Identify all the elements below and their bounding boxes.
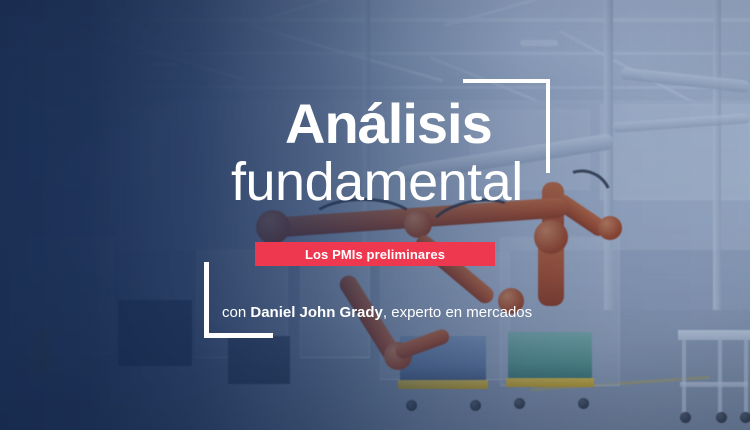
page-title-primary: Análisis xyxy=(285,96,492,152)
corner-bracket-bottom-left-horizontal xyxy=(204,333,273,338)
byline-prefix: con xyxy=(222,304,250,321)
topic-ribbon: Los PMIs preliminares xyxy=(255,242,495,266)
byline-suffix: , experto en mercados xyxy=(383,304,532,321)
corner-bracket-top-right-vertical xyxy=(546,79,550,173)
corner-bracket-top-right-horizontal xyxy=(463,79,550,83)
topic-ribbon-label: Los PMIs preliminares xyxy=(305,247,445,262)
speaker-byline: con Daniel John Grady, experto en mercad… xyxy=(222,305,532,320)
corner-bracket-bottom-left-vertical xyxy=(204,262,209,338)
foreground-layer: Análisis fundamental Los PMIs preliminar… xyxy=(0,0,750,430)
byline-speaker-name: Daniel John Grady xyxy=(250,304,383,321)
page-title-secondary: fundamental xyxy=(231,155,523,209)
promo-banner: Análisis fundamental Los PMIs preliminar… xyxy=(0,0,750,430)
